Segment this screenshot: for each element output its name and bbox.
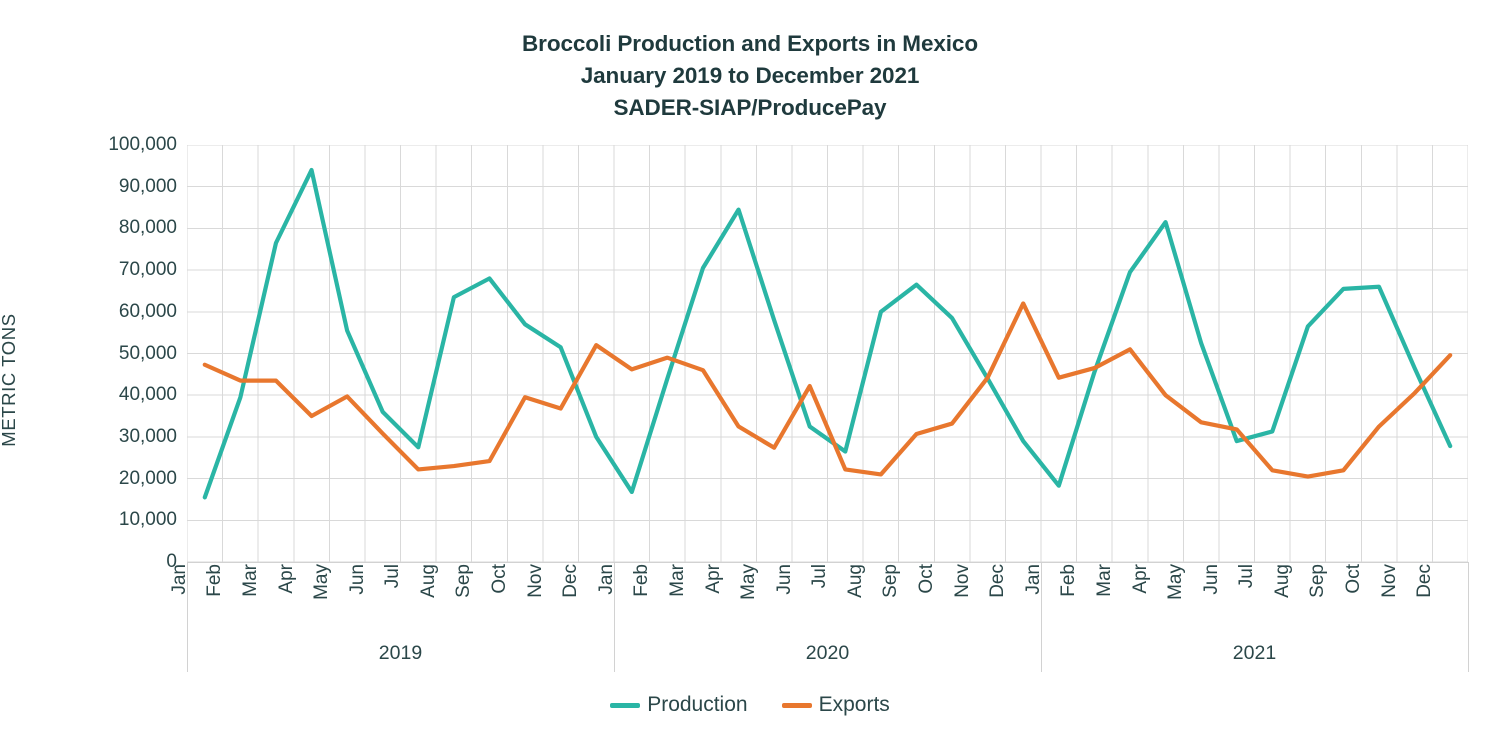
x-axis-tick-label: Dec (1415, 562, 1485, 632)
y-axis-tick-label: 50,000 (57, 344, 177, 364)
year-group-label: 2020 (614, 640, 1041, 666)
year-group-separator (1468, 562, 1469, 672)
year-group-label: 2021 (1041, 640, 1468, 666)
year-group-separator (614, 562, 615, 672)
x-axis-tick-label-text: Aug (846, 562, 866, 632)
x-axis-tick-label-text: May (1166, 562, 1186, 632)
x-axis-tick-label-text: Apr (277, 562, 297, 632)
x-axis-tick-label-text: Aug (419, 562, 439, 632)
y-axis-tick-label: 60,000 (57, 302, 177, 322)
x-axis-tick-label-text: Feb (632, 562, 652, 632)
x-axis-tick-label-text: Nov (1380, 562, 1400, 632)
legend-item-exports[interactable]: Exports (782, 693, 890, 717)
x-axis-tick-label-text: Jul (383, 562, 403, 632)
x-axis-tick-label-text: Feb (1059, 562, 1079, 632)
x-axis-tick-label-text: Jun (1202, 562, 1222, 632)
x-axis-tick-label-text: Oct (917, 562, 937, 632)
y-axis-tick-label: 100,000 (57, 135, 177, 155)
y-axis-tick-label: 90,000 (57, 177, 177, 197)
chart-title: Broccoli Production and Exports in Mexic… (0, 28, 1500, 124)
y-axis-tick-label: 70,000 (57, 260, 177, 280)
year-group-separator (187, 562, 188, 672)
y-axis-tick-label: 80,000 (57, 218, 177, 238)
legend-color-swatch-icon (610, 703, 640, 708)
x-axis-tick-label-text: Nov (953, 562, 973, 632)
x-axis-tick-label-text: May (312, 562, 332, 632)
x-axis-tick-label-text: Apr (1131, 562, 1151, 632)
x-axis-tick-label-text: Apr (704, 562, 724, 632)
x-axis-tick-label-text: Oct (1344, 562, 1364, 632)
x-axis-tick-label-text: Nov (526, 562, 546, 632)
x-axis-tick-label-text: Jun (348, 562, 368, 632)
y-axis-tick-label: 0 (57, 552, 177, 572)
chart-legend: ProductionExports (0, 688, 1500, 722)
x-axis-tick-label-text: Sep (881, 562, 901, 632)
x-axis-tick-label-text: Jun (775, 562, 795, 632)
legend-item-label: Production (647, 693, 747, 717)
chart-title-line-2: January 2019 to December 2021 (0, 60, 1500, 92)
y-axis-tick-label: 10,000 (57, 510, 177, 530)
x-axis-tick-label-text: Aug (1273, 562, 1293, 632)
x-axis-tick-labels: JanFebMarAprMayJunJulAugSepOctNovDecJanF… (187, 562, 1468, 632)
legend-item-label: Exports (819, 693, 890, 717)
x-axis-tick-label-text: Oct (490, 562, 510, 632)
x-axis-tick-label-text: Jul (1237, 562, 1257, 632)
y-axis-tick-label: 40,000 (57, 385, 177, 405)
chart-title-line-1: Broccoli Production and Exports in Mexic… (0, 28, 1500, 60)
x-axis-tick-label-text: Mar (1095, 562, 1115, 632)
year-group-separator (1041, 562, 1042, 672)
chart-container: Broccoli Production and Exports in Mexic… (0, 0, 1500, 750)
year-group-label: 2019 (187, 640, 614, 666)
chart-title-line-3: SADER-SIAP/ProducePay (0, 92, 1500, 124)
gridlines (187, 145, 1468, 562)
x-axis-tick-label-text: Jul (810, 562, 830, 632)
x-axis-tick-label-text: Dec (1415, 562, 1435, 632)
y-axis-title: METRIC TONS (0, 270, 24, 490)
x-axis-tick-label-text: Mar (668, 562, 688, 632)
x-axis-tick-label-text: Sep (1308, 562, 1328, 632)
x-axis-tick-label-text: Mar (241, 562, 261, 632)
plot-svg (187, 145, 1468, 562)
x-axis-tick-label-text: May (739, 562, 759, 632)
y-axis-tick-label: 30,000 (57, 427, 177, 447)
x-axis-tick-label-text: Feb (205, 562, 225, 632)
legend-item-production[interactable]: Production (610, 693, 747, 717)
y-axis-tick-label: 20,000 (57, 469, 177, 489)
plot-area (187, 145, 1468, 562)
x-axis-tick-label-text: Dec (561, 562, 581, 632)
year-group-labels: 201920202021 (187, 640, 1468, 674)
y-axis-tick-labels: 100,00090,00080,00070,00060,00050,00040,… (55, 0, 177, 750)
x-axis-tick-label-text: Sep (454, 562, 474, 632)
x-axis-tick-label-text: Dec (988, 562, 1008, 632)
legend-color-swatch-icon (782, 703, 812, 708)
